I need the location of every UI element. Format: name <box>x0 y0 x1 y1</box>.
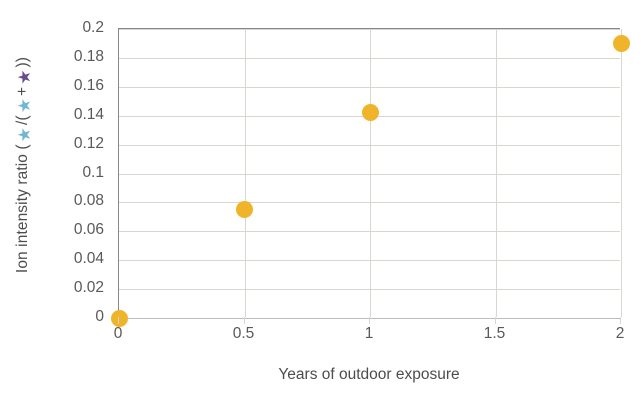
y-axis-tick-label: 0.18 <box>74 48 104 66</box>
data-point <box>362 104 379 121</box>
y-axis-title-prefix: Ion intensity ratio ( <box>14 144 32 273</box>
y-axis-title-suffix: )) <box>14 57 32 68</box>
x-axis-tick-mark <box>620 317 621 324</box>
data-point <box>111 310 128 327</box>
y-axis-tick-label: 0.1 <box>82 164 104 182</box>
x-axis-tick-mark <box>244 317 245 324</box>
x-axis-tick-mark <box>118 317 119 324</box>
gridline-vertical <box>496 29 497 317</box>
gridline-vertical <box>370 29 371 317</box>
y-axis-tick-label: 0.08 <box>74 192 104 210</box>
data-point <box>613 35 630 52</box>
star-icon-numerator: ★ <box>16 127 33 142</box>
y-axis-title-plus: + <box>14 87 32 96</box>
star-icon-denominator-second: ★ <box>16 69 33 84</box>
x-axis-tick-label: 0.5 <box>233 325 255 343</box>
x-axis-tick-mark <box>369 317 370 324</box>
x-axis-tick-mark <box>495 317 496 324</box>
y-axis-tick-label: 0.06 <box>74 221 104 239</box>
x-axis-tick-labels: 00.511.52 <box>118 325 620 351</box>
gridline-vertical <box>621 29 622 317</box>
y-axis-tick-label: 0.2 <box>82 19 104 37</box>
gridline-vertical <box>245 29 246 317</box>
y-axis-title-text: Ion intensity ratio (★/(★+★)) <box>14 57 32 273</box>
y-axis-tick-label: 0.02 <box>74 279 104 297</box>
x-axis-tick-label: 1.5 <box>484 325 506 343</box>
y-axis-tick-label: 0 <box>95 308 104 326</box>
chart-container: Ion intensity ratio (★/(★+★)) 00.020.040… <box>0 0 644 408</box>
x-axis-tick-label: 2 <box>616 325 625 343</box>
plot-area <box>118 28 620 317</box>
y-axis-tick-label: 0.12 <box>74 135 104 153</box>
y-axis-tick-label: 0.16 <box>74 77 104 95</box>
data-point <box>236 201 253 218</box>
x-axis-title: Years of outdoor exposure <box>118 366 620 384</box>
y-axis-tick-label: 0.14 <box>74 106 104 124</box>
x-axis-tick-label: 1 <box>365 325 374 343</box>
y-axis-tick-label: 0.04 <box>74 250 104 268</box>
y-axis-title-slash: /( <box>14 115 32 125</box>
x-axis-tick-label: 0 <box>114 325 123 343</box>
y-axis-title: Ion intensity ratio (★/(★+★)) <box>0 0 46 330</box>
star-icon-denominator-first: ★ <box>16 98 33 113</box>
y-axis-tick-labels: 00.020.040.060.080.10.120.140.160.180.2 <box>46 0 112 408</box>
